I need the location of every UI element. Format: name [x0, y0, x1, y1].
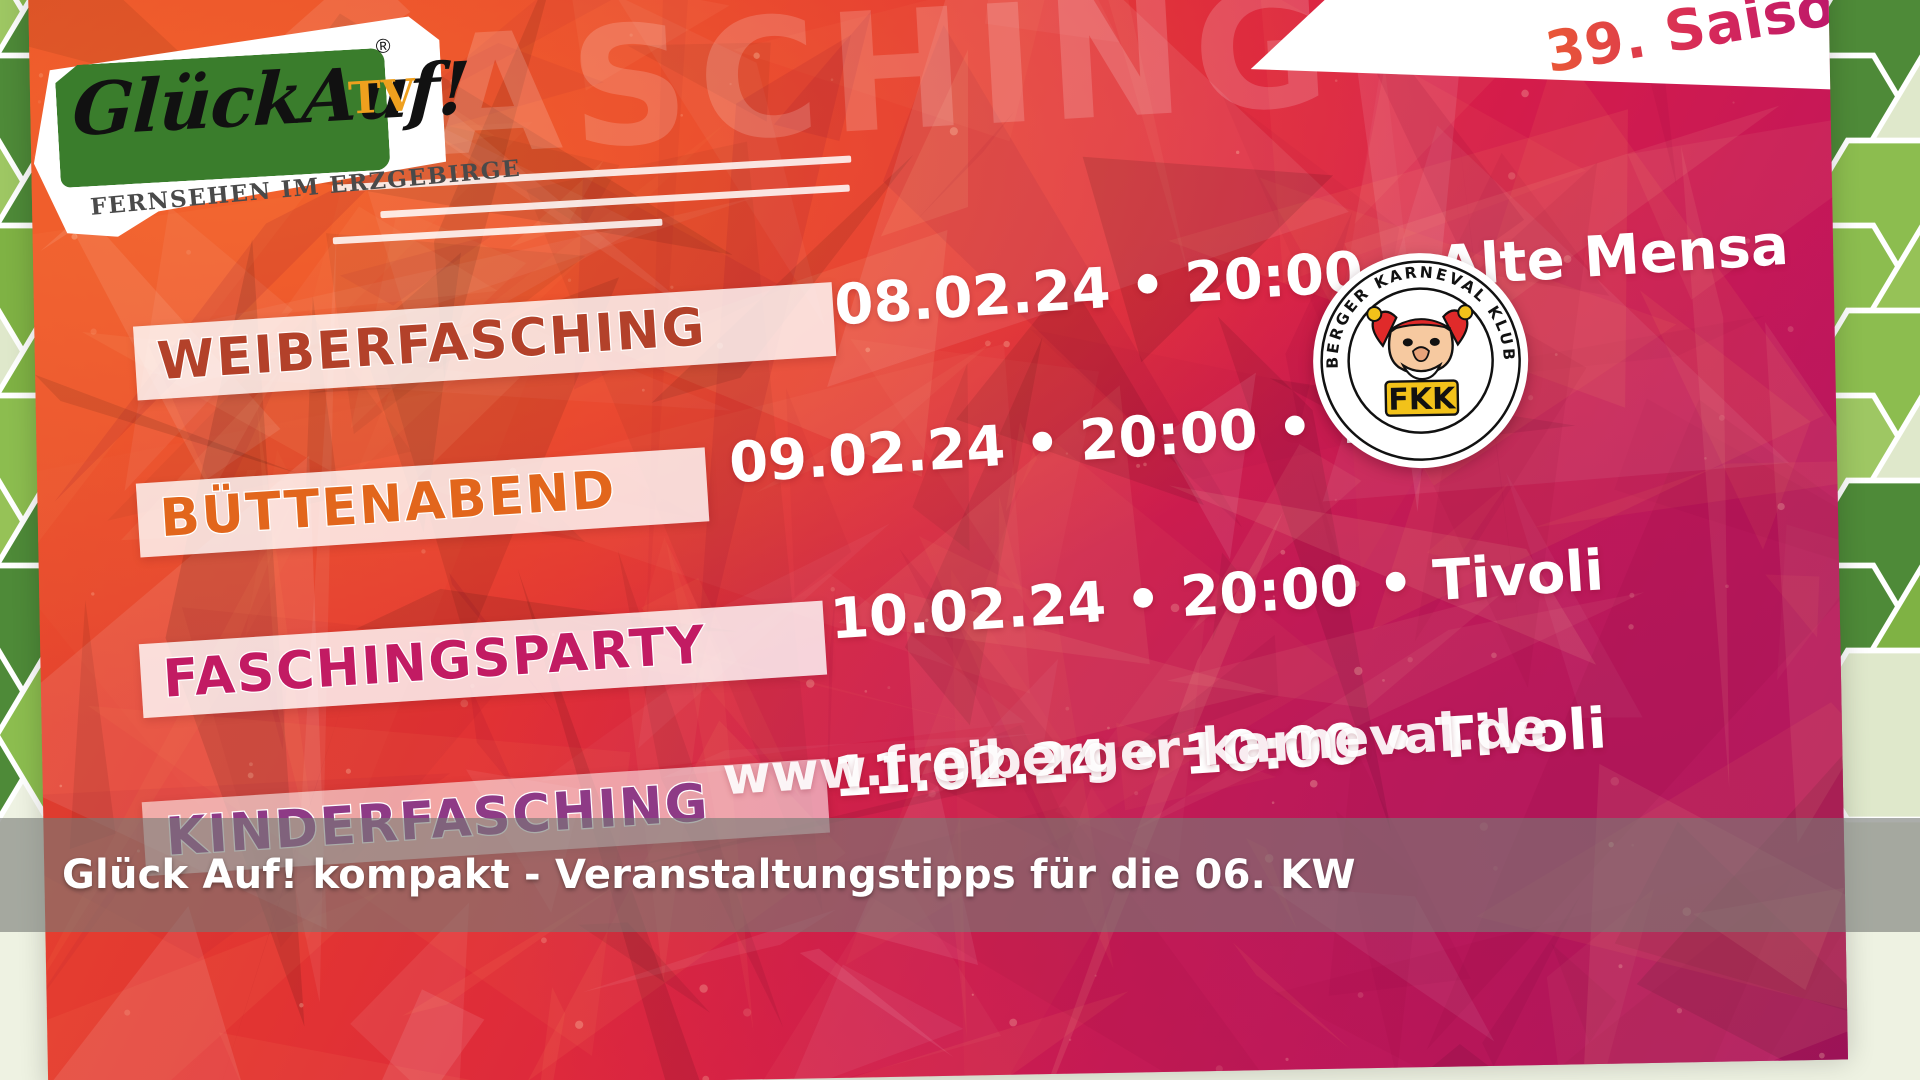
event-name: WEIBERFASCHING — [156, 301, 708, 388]
event-name: FASCHINGSPARTY — [161, 619, 708, 706]
svg-text:FKK: FKK — [1388, 381, 1457, 417]
logo-tv-text: TV — [347, 70, 417, 125]
season-label: 39. Saison — [1541, 0, 1848, 86]
lower-third-title: Glück Auf! kompakt - Veranstaltungstipps… — [62, 852, 1356, 898]
broadcast-frame: FASCHING 39. Saison WEIBERFASCHING 08.02… — [0, 0, 1920, 1080]
registered-mark-icon: ® — [375, 35, 391, 59]
event-name: BÜTTENABEND — [158, 464, 618, 545]
glueckauf-tv-logo: GlückAuf! TV ® FERNSEHEN IM ERZGEBIRGE — [22, 10, 453, 243]
lower-third-bar: Glück Auf! kompakt - Veranstaltungstipps… — [0, 818, 1920, 932]
